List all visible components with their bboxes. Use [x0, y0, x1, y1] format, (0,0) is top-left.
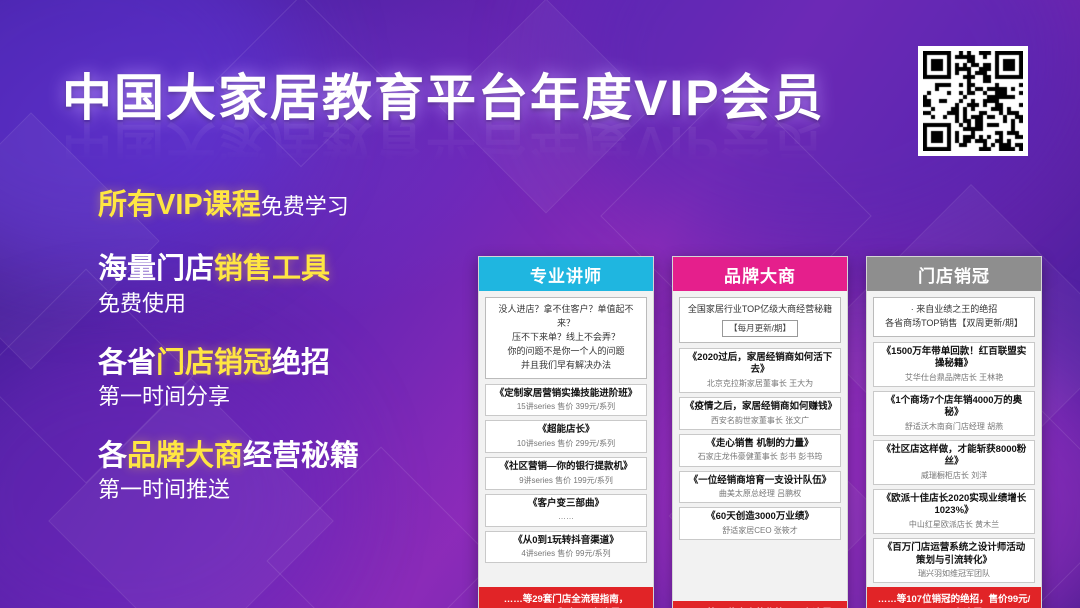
benefit-subtext: 免费使用: [98, 291, 186, 316]
card-item-subtitle: 15讲series 售价 399元/系列: [491, 402, 641, 412]
card-title: 品牌大商: [673, 257, 847, 291]
card-item-subtitle: ……: [491, 512, 641, 522]
card-intro-line: 你的问题不是你一个人的问题: [492, 345, 640, 359]
card-item-title: 《客户变三部曲》: [491, 498, 641, 510]
course-card[interactable]: 专业讲师没人进店？拿不住客户？单值起不来？压不下来单？线上不会弄？你的问题不是你…: [478, 256, 654, 608]
card-item-subtitle: 10讲series 售价 299元/系列: [491, 439, 641, 449]
card-intro-line: 全国家居行业TOP亿级大商经营秘籍: [686, 303, 834, 317]
course-card[interactable]: 品牌大商全国家居行业TOP亿级大商经营秘籍【每月更新/期】《2020过后，家居经…: [672, 256, 848, 608]
card-item-subtitle: 舒适家居CEO 张筱才: [685, 526, 835, 536]
card-item-title: 《超能店长》: [491, 424, 641, 436]
benefit-list: 所有VIP课程免费学习 海量门店销售工具 免费使用 各省门店销冠绝招 第一时间分…: [98, 186, 478, 530]
card-item-subtitle: 中山红星欧派店长 黄木兰: [879, 520, 1029, 530]
card-item[interactable]: 《欧派十佳店长2020实现业绩增长1023%》中山红星欧派店长 黄木兰: [873, 489, 1035, 534]
card-item[interactable]: 《1500万年带单回款！红百联盟实操秘籍》艾华仕台鼎品牌店长 王林艳: [873, 342, 1035, 387]
card-item[interactable]: 《一位经销商培育一支设计队伍》曲美太原总经理 吕鹏权: [679, 471, 841, 504]
card-item-title: 《2020过后，家居经销商如何活下去》: [685, 352, 835, 377]
card-item-title: 《1个商场7个店年销4000万的奥秘》: [879, 395, 1029, 420]
card-footer: ……等21位大商的秘籍，只在这里【大家居教育平台】: [673, 601, 847, 608]
card-item[interactable]: 《1个商场7个店年销4000万的奥秘》舒适沃木南商门店经理 胡燕: [873, 391, 1035, 436]
card-footer: ……等107位销冠的绝招，售价99元/月，只在这里【大家居教育平台】: [867, 587, 1041, 608]
card-item-title: 《百万门店运营系统之设计师活动策划与引流转化》: [879, 542, 1029, 567]
benefit-subtext: 第一时间分享: [98, 384, 230, 409]
card-item[interactable]: 《社区营销—你的银行提款机》9讲series 售价 199元/系列: [485, 457, 647, 490]
list-item: 海量门店销售工具 免费使用: [98, 250, 478, 317]
card-intro-line: · 来自业绩之王的绝招: [880, 303, 1028, 317]
card-item[interactable]: 《客户变三部曲》……: [485, 494, 647, 527]
card-item-title: 《从0到1玩转抖音渠道》: [491, 535, 641, 547]
card-item-subtitle: 9讲series 售价 199元/系列: [491, 476, 641, 486]
card-intro: 没人进店？拿不住客户？单值起不来？压不下来单？线上不会弄？你的问题不是你一个人的…: [485, 297, 647, 379]
card-item[interactable]: 《60天创造3000万业绩》舒适家居CEO 张筱才: [679, 507, 841, 540]
card-body: 全国家居行业TOP亿级大商经营秘籍【每月更新/期】《2020过后，家居经销商如何…: [673, 291, 847, 608]
course-card[interactable]: 门店销冠· 来自业绩之王的绝招各省商场TOP销售【双周更新/期】《1500万年带…: [866, 256, 1042, 608]
card-intro-line: 压不下来单？线上不会弄？: [492, 331, 640, 345]
card-intro-line: 并且我们早有解决办法: [492, 359, 640, 373]
card-item-subtitle: 西安名韵世家董事长 张文广: [685, 416, 835, 426]
benefit-subtext: 第一时间推送: [98, 477, 230, 502]
card-body: · 来自业绩之王的绝招各省商场TOP销售【双周更新/期】《1500万年带单回款！…: [867, 291, 1041, 608]
benefit-text-tail: 经营秘籍: [243, 440, 359, 472]
card-item[interactable]: 《社区店这样做，才能斩获8000粉丝》威瑞橱柜店长 刘洋: [873, 440, 1035, 485]
card-item-title: 《定制家居营销实操技能进阶班》: [491, 388, 641, 400]
card-item-title: 《社区店这样做，才能斩获8000粉丝》: [879, 444, 1029, 469]
card-item-subtitle: 4讲series 售价 99元/系列: [491, 549, 641, 559]
card-item-title: 《60天创造3000万业绩》: [685, 511, 835, 523]
card-item[interactable]: 《定制家居营销实操技能进阶班》15讲series 售价 399元/系列: [485, 384, 647, 417]
card-item[interactable]: 《百万门店运营系统之设计师活动策划与引流转化》瑞兴羽如维冠军团队: [873, 538, 1035, 583]
benefit-text: 各: [98, 440, 127, 472]
benefit-highlight: 所有VIP课程: [98, 189, 261, 221]
card-intro-line: 没人进店？拿不住客户？单值起不来？: [492, 303, 640, 331]
card-footer: ……等29套门店全流程指南，99-399元/系列，只在这里【大家居教育平台】: [479, 587, 653, 608]
card-item[interactable]: 《从0到1玩转抖音渠道》4讲series 售价 99元/系列: [485, 531, 647, 564]
benefit-highlight: 品牌大商: [127, 440, 243, 472]
page-title: 中国大家居教育平台年度VIP会员: [62, 58, 825, 130]
card-item-subtitle: 石家庄龙伟豪健董事长 彭书 彭书筠: [685, 452, 835, 462]
benefit-text-tail: 绝招: [272, 347, 330, 379]
card-intro-line: 各省商场TOP销售【双周更新/期】: [880, 317, 1028, 331]
card-item-title: 《1500万年带单回款！红百联盟实操秘籍》: [879, 346, 1029, 371]
card-item[interactable]: 《走心销售 机制的力量》石家庄龙伟豪健董事长 彭书 彭书筠: [679, 434, 841, 467]
poster-background: 中国大家居教育平台年度VIP会员 中国大家居教育平台年度VIP会员 所有VIP课…: [0, 0, 1080, 608]
list-item: 所有VIP课程免费学习: [98, 186, 478, 224]
benefit-highlight: 门店销冠: [156, 347, 272, 379]
card-item-subtitle: 曲美太原总经理 吕鹏权: [685, 489, 835, 499]
benefit-text: 海量门店: [98, 253, 214, 285]
card-item-subtitle: 艾华仕台鼎品牌店长 王林艳: [879, 373, 1029, 383]
course-cards: 专业讲师没人进店？拿不住客户？单值起不来？压不下来单？线上不会弄？你的问题不是你…: [478, 256, 1042, 608]
card-intro-badge: 【每月更新/期】: [722, 320, 798, 337]
card-item-subtitle: 舒适沃木南商门店经理 胡燕: [879, 422, 1029, 432]
benefit-text: 免费学习: [261, 194, 349, 219]
card-title: 专业讲师: [479, 257, 653, 291]
card-body: 没人进店？拿不住客户？单值起不来？压不下来单？线上不会弄？你的问题不是你一个人的…: [479, 291, 653, 608]
card-intro: · 来自业绩之王的绝招各省商场TOP销售【双周更新/期】: [873, 297, 1035, 337]
card-footer-line: ……等29套门店全流程指南，: [483, 593, 649, 607]
list-item: 各品牌大商经营秘籍 第一时间推送: [98, 437, 478, 504]
card-item-title: 《走心销售 机制的力量》: [685, 438, 835, 450]
benefit-highlight: 销售工具: [214, 253, 330, 285]
qr-code[interactable]: [918, 46, 1028, 156]
card-item-title: 《疫情之后，家居经销商如何赚钱》: [685, 401, 835, 413]
card-item-subtitle: 北京克拉斯家居董事长 王大为: [685, 379, 835, 389]
card-item-title: 《欧派十佳店长2020实现业绩增长1023%》: [879, 493, 1029, 518]
card-item[interactable]: 《超能店长》10讲series 售价 299元/系列: [485, 420, 647, 453]
card-item[interactable]: 《2020过后，家居经销商如何活下去》北京克拉斯家居董事长 王大为: [679, 348, 841, 393]
card-item-subtitle: 威瑞橱柜店长 刘洋: [879, 471, 1029, 481]
card-footer-line: ……等107位销冠的绝招，售价99元/月，只在这里: [871, 593, 1037, 608]
benefit-text: 各省: [98, 347, 156, 379]
card-item-title: 《一位经销商培育一支设计队伍》: [685, 475, 835, 487]
card-item-title: 《社区营销—你的银行提款机》: [491, 461, 641, 473]
card-item-subtitle: 瑞兴羽如维冠军团队: [879, 569, 1029, 579]
card-item[interactable]: 《疫情之后，家居经销商如何赚钱》西安名韵世家董事长 张文广: [679, 397, 841, 430]
list-item: 各省门店销冠绝招 第一时间分享: [98, 344, 478, 411]
card-title: 门店销冠: [867, 257, 1041, 291]
card-intro: 全国家居行业TOP亿级大商经营秘籍【每月更新/期】: [679, 297, 841, 343]
